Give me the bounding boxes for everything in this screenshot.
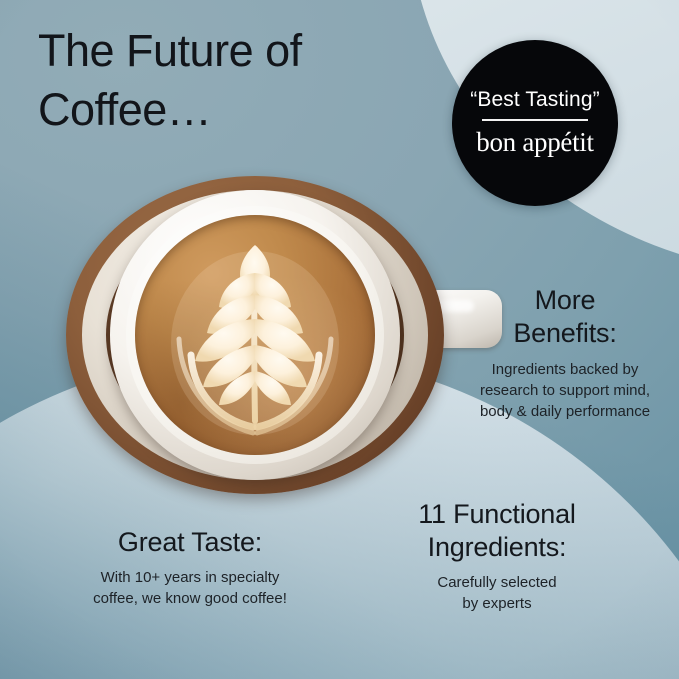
headline-line-1: The Future of bbox=[38, 22, 418, 81]
benefit-heading-line-1: 11 Functional bbox=[372, 498, 622, 531]
benefit-heading: Great Taste: bbox=[50, 526, 330, 559]
benefit-heading-line-1: More bbox=[458, 284, 672, 317]
badge-divider bbox=[482, 119, 588, 121]
benefit-body: Carefully selected by experts bbox=[372, 572, 622, 615]
benefit-body: Ingredients backed by research to suppor… bbox=[458, 359, 672, 423]
benefit-block-more-benefits: More Benefits: Ingredients backed by res… bbox=[458, 284, 672, 423]
benefit-body-line-1: Carefully selected bbox=[372, 572, 622, 593]
benefit-body-line-2: coffee, we know good coffee! bbox=[50, 588, 330, 609]
coffee-cup bbox=[110, 190, 400, 480]
marketing-image: The Future of Coffee… bbox=[0, 0, 679, 679]
benefit-body-line-1: With 10+ years in specialty bbox=[50, 567, 330, 588]
badge-publication: bon appétit bbox=[476, 127, 593, 158]
benefit-heading: 11 Functional Ingredients: bbox=[372, 498, 622, 564]
benefit-body-line-2: research to support mind, bbox=[458, 380, 672, 401]
benefit-heading-line-2: Benefits: bbox=[458, 317, 672, 350]
benefit-block-great-taste: Great Taste: With 10+ years in specialty… bbox=[50, 526, 330, 610]
benefit-heading: More Benefits: bbox=[458, 284, 672, 350]
latte-art-rosetta bbox=[135, 215, 375, 455]
benefit-body-line-1: Ingredients backed by bbox=[458, 359, 672, 380]
benefit-heading-line-2: Ingredients: bbox=[372, 531, 622, 564]
badge-award-text: “Best Tasting” bbox=[470, 88, 599, 112]
benefit-block-functional-ingredients: 11 Functional Ingredients: Carefully sel… bbox=[372, 498, 622, 614]
page-title: The Future of Coffee… bbox=[38, 22, 418, 139]
benefit-body-line-3: body & daily performance bbox=[458, 401, 672, 422]
headline-line-2: Coffee… bbox=[38, 81, 418, 140]
benefit-body-line-2: by experts bbox=[372, 593, 622, 614]
coffee-cup-image bbox=[58, 168, 458, 498]
coffee-crema-surface bbox=[135, 215, 375, 455]
status-badge: “Best Tasting” bon appétit bbox=[452, 40, 618, 206]
benefit-body: With 10+ years in specialty coffee, we k… bbox=[50, 567, 330, 610]
benefit-heading-line-1: Great Taste: bbox=[50, 526, 330, 559]
